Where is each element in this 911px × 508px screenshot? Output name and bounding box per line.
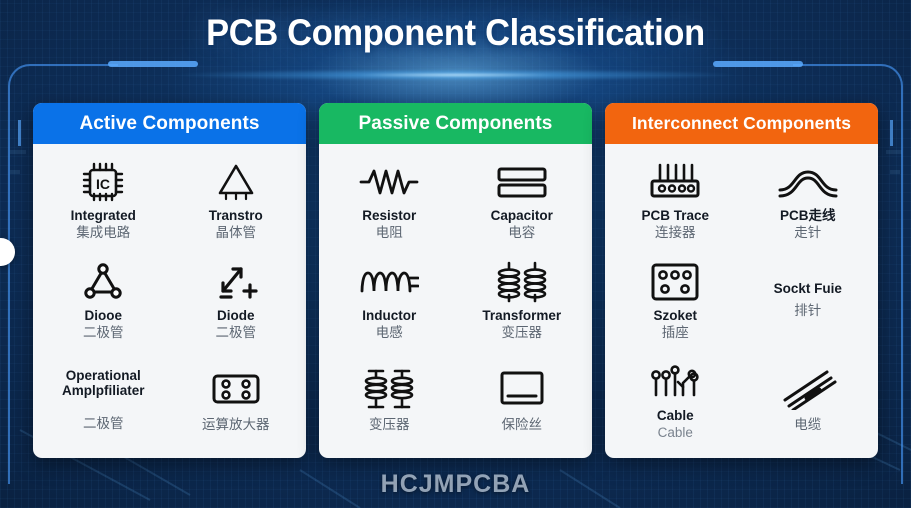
card-active-components: Active Components <box>33 103 306 458</box>
component-label-cn: 变压器 <box>369 417 410 433</box>
component-label-en: Transformer <box>482 308 561 323</box>
classification-columns: Active Components <box>33 103 878 458</box>
component-label-en: PCB走线 <box>780 208 836 223</box>
component-cell[interactable]: Sockt Fuie 排针 <box>742 250 875 350</box>
pcb-trace-curve-icon <box>777 159 839 205</box>
component-cell[interactable]: PCB Trace 连接器 <box>609 150 742 250</box>
hud-bar-right <box>713 61 803 67</box>
capacitor-plates-icon <box>494 159 550 205</box>
component-label-cn: 电感 <box>376 325 403 341</box>
component-label-cn: 排针 <box>794 303 821 319</box>
card-body-interconnect: PCB Trace 连接器 PCB走线 走针 <box>605 144 878 458</box>
component-label-en: Capacitor <box>491 208 553 223</box>
card-header-interconnect: Interconnect Components <box>605 103 878 144</box>
cable-strands-icon <box>779 366 837 412</box>
component-label-en: Diode <box>217 308 255 323</box>
diode-arrows-icon <box>212 259 260 305</box>
card-body-active: IC Integrated 集成电路 <box>33 144 306 458</box>
prev-slide-button[interactable] <box>0 238 15 266</box>
hud-tick-left <box>18 120 21 146</box>
component-label-cn: Cable <box>658 425 693 441</box>
op-amp-package-icon <box>209 366 263 412</box>
resistor-zigzag-icon <box>359 159 419 205</box>
transformer-coils-icon <box>493 259 551 305</box>
component-label-cn: 二极管 <box>83 325 124 341</box>
svg-text:IC: IC <box>96 176 110 192</box>
component-label-cn: 插座 <box>662 325 689 341</box>
component-label-cn: 运算放大器 <box>202 417 270 433</box>
card-passive-components: Passive Components Resistor 电阻 <box>319 103 592 458</box>
component-label-cn: 晶体管 <box>216 225 257 241</box>
component-label-cn: 连接器 <box>655 225 696 241</box>
component-cell[interactable]: 变压器 <box>323 350 456 450</box>
fuse-box-icon <box>497 366 547 412</box>
card-interconnect-components: Interconnect Components <box>605 103 878 458</box>
component-cell[interactable]: Operational Amplpfiliater 二极管 <box>37 350 170 450</box>
component-label-en: Transtro <box>209 208 263 223</box>
component-label-en: Cable <box>657 408 694 423</box>
component-label-cn: 电容 <box>508 225 535 241</box>
component-cell[interactable]: Capacitor 电容 <box>456 150 589 250</box>
component-label-cn: 电缆 <box>794 417 821 433</box>
page-title: PCB Component Classification <box>32 12 879 54</box>
component-label-cn: 电阻 <box>376 225 403 241</box>
pin-header-connector-icon <box>646 159 704 205</box>
component-label-en: Inductor <box>362 308 416 323</box>
component-cell[interactable]: 保险丝 <box>456 350 589 450</box>
component-label-en: Operational Amplpfiliater <box>41 368 166 399</box>
component-label-cn: 保险丝 <box>502 417 543 433</box>
component-cell[interactable]: Transformer 变压器 <box>456 250 589 350</box>
component-cell[interactable]: Szoket 插座 <box>609 250 742 350</box>
inductor-coil-icon <box>359 259 419 305</box>
component-cell[interactable]: PCB走线 走针 <box>742 150 875 250</box>
component-label-en: Szoket <box>653 308 697 323</box>
component-cell[interactable]: Inductor 电感 <box>323 250 456 350</box>
hud-tick-right <box>890 120 893 146</box>
component-label-cn: 走针 <box>794 225 821 241</box>
card-header-passive: Passive Components <box>319 103 592 144</box>
component-label-cn: 二极管 <box>83 416 124 432</box>
component-label-en: Sockt Fuie <box>774 281 842 297</box>
card-header-active: Active Components <box>33 103 306 144</box>
component-cell[interactable]: Diooe 二极管 <box>37 250 170 350</box>
diode-triangle-nodes-icon <box>81 259 125 305</box>
component-cell[interactable]: Cable Cable <box>609 350 742 450</box>
component-cell[interactable]: Transtro 晶体管 <box>170 150 303 250</box>
component-cell[interactable]: Resistor 电阻 <box>323 150 456 250</box>
hud-bar-left <box>108 61 198 67</box>
socket-holes-icon <box>648 259 702 305</box>
component-label-en: Integrated <box>71 208 136 223</box>
component-cell[interactable]: Diode 二极管 <box>170 250 303 350</box>
component-label-cn: 变压器 <box>502 325 543 341</box>
cable-traces-icon <box>648 359 702 405</box>
watermark-logo: HCJMPCBA <box>0 470 911 499</box>
component-label-en: PCB Trace <box>641 208 709 223</box>
component-cell[interactable]: 电缆 <box>742 350 875 450</box>
header-glow-streak <box>0 70 911 80</box>
component-label-cn: 二极管 <box>216 325 257 341</box>
transformer-dual-icon <box>360 366 418 412</box>
ic-chip-icon: IC <box>80 159 126 205</box>
card-body-passive: Resistor 电阻 Capacitor 电容 <box>319 144 592 458</box>
transistor-triangle-icon <box>213 159 259 205</box>
component-label-cn: 集成电路 <box>76 225 130 241</box>
component-label-en: Resistor <box>362 208 416 223</box>
component-label-en: Diooe <box>84 308 122 323</box>
slide-canvas: PCB Component Classification Active Comp… <box>0 0 911 508</box>
component-cell[interactable]: 运算放大器 <box>170 350 303 450</box>
component-cell[interactable]: IC Integrated 集成电路 <box>37 150 170 250</box>
